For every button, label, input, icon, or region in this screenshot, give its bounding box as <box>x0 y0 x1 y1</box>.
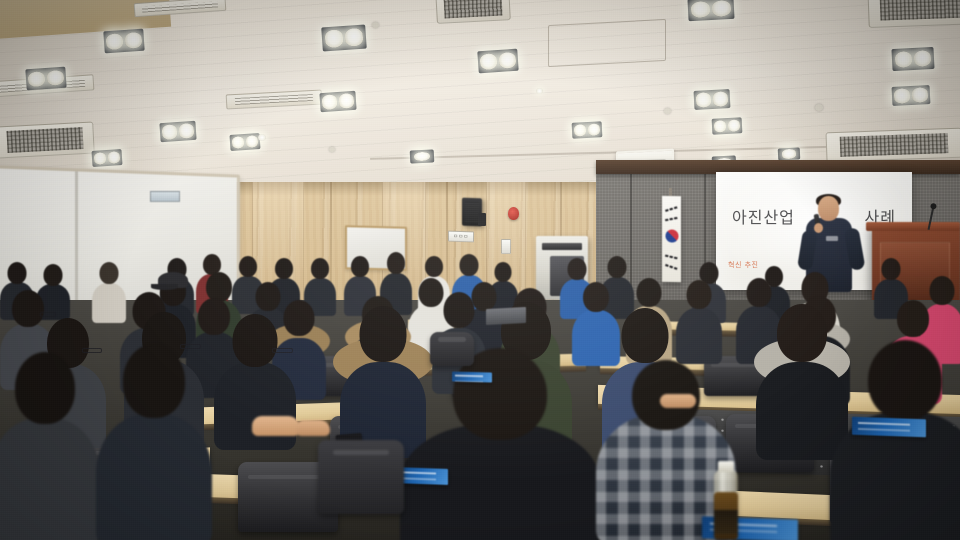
seminar-brochure[interactable] <box>452 371 492 382</box>
ceiling-downlight <box>712 117 743 135</box>
ceiling-downlight <box>103 29 144 54</box>
beverage-bottle[interactable] <box>714 470 738 540</box>
ac-cassette <box>0 121 95 158</box>
room-sign-plate: ㅁㅁㅁ <box>448 231 474 243</box>
hand <box>252 416 300 436</box>
ceiling-downlight <box>410 149 435 163</box>
laptop[interactable] <box>486 307 526 325</box>
ceiling-downlight <box>477 49 518 74</box>
sprinkler-head <box>372 22 379 28</box>
ceiling-downlight <box>91 149 122 167</box>
audience-member <box>96 344 212 540</box>
korean-flag-icon <box>662 196 681 282</box>
ceiling-downlight <box>891 47 934 71</box>
flush-downlight <box>536 88 543 94</box>
backpack[interactable] <box>318 440 404 514</box>
photo-scene: ㅁㅁㅁ 아진산업 사례 혁신 추진 개발 <box>0 0 960 540</box>
presenter-head <box>818 196 839 221</box>
ceiling-downlight <box>694 89 731 110</box>
sprinkler-head <box>815 104 823 111</box>
audience-member <box>0 352 100 540</box>
slide-subtitle-left: 혁신 추진 <box>728 260 759 270</box>
audience-member <box>830 340 960 540</box>
ceiling-downlight <box>159 121 196 142</box>
light-switch-plate[interactable] <box>501 239 511 254</box>
ceiling-downlight <box>572 121 603 139</box>
ac-cassette <box>867 0 960 28</box>
slide-title-left: 아진산업 <box>732 204 795 228</box>
speaker-mount-bracket <box>478 213 486 226</box>
ac-cassette <box>435 0 511 24</box>
presenter-hand <box>814 223 823 233</box>
fire-alarm-bell-icon <box>508 207 519 220</box>
sprinkler-head <box>329 147 335 152</box>
flush-downlight <box>258 134 266 141</box>
backpack[interactable] <box>430 332 474 366</box>
ceiling-downlight <box>687 0 734 21</box>
ac-cassette <box>826 128 960 163</box>
presenter-name-badge <box>826 236 838 241</box>
ceiling-downlight <box>778 147 801 160</box>
ceiling-downlight <box>25 67 66 91</box>
wall-sign <box>150 191 180 202</box>
ceiling-downlight <box>229 133 260 151</box>
taeguk-symbol <box>665 229 678 242</box>
ceiling-downlight <box>321 24 367 51</box>
hand <box>660 394 696 408</box>
audience-member <box>400 348 600 540</box>
sprinkler-head <box>664 108 671 114</box>
seminar-brochure[interactable] <box>852 417 926 438</box>
ceiling-downlight <box>892 85 931 106</box>
ceiling-downlight <box>319 91 356 112</box>
ceiling-access-panel <box>548 19 666 67</box>
hand <box>296 420 330 436</box>
